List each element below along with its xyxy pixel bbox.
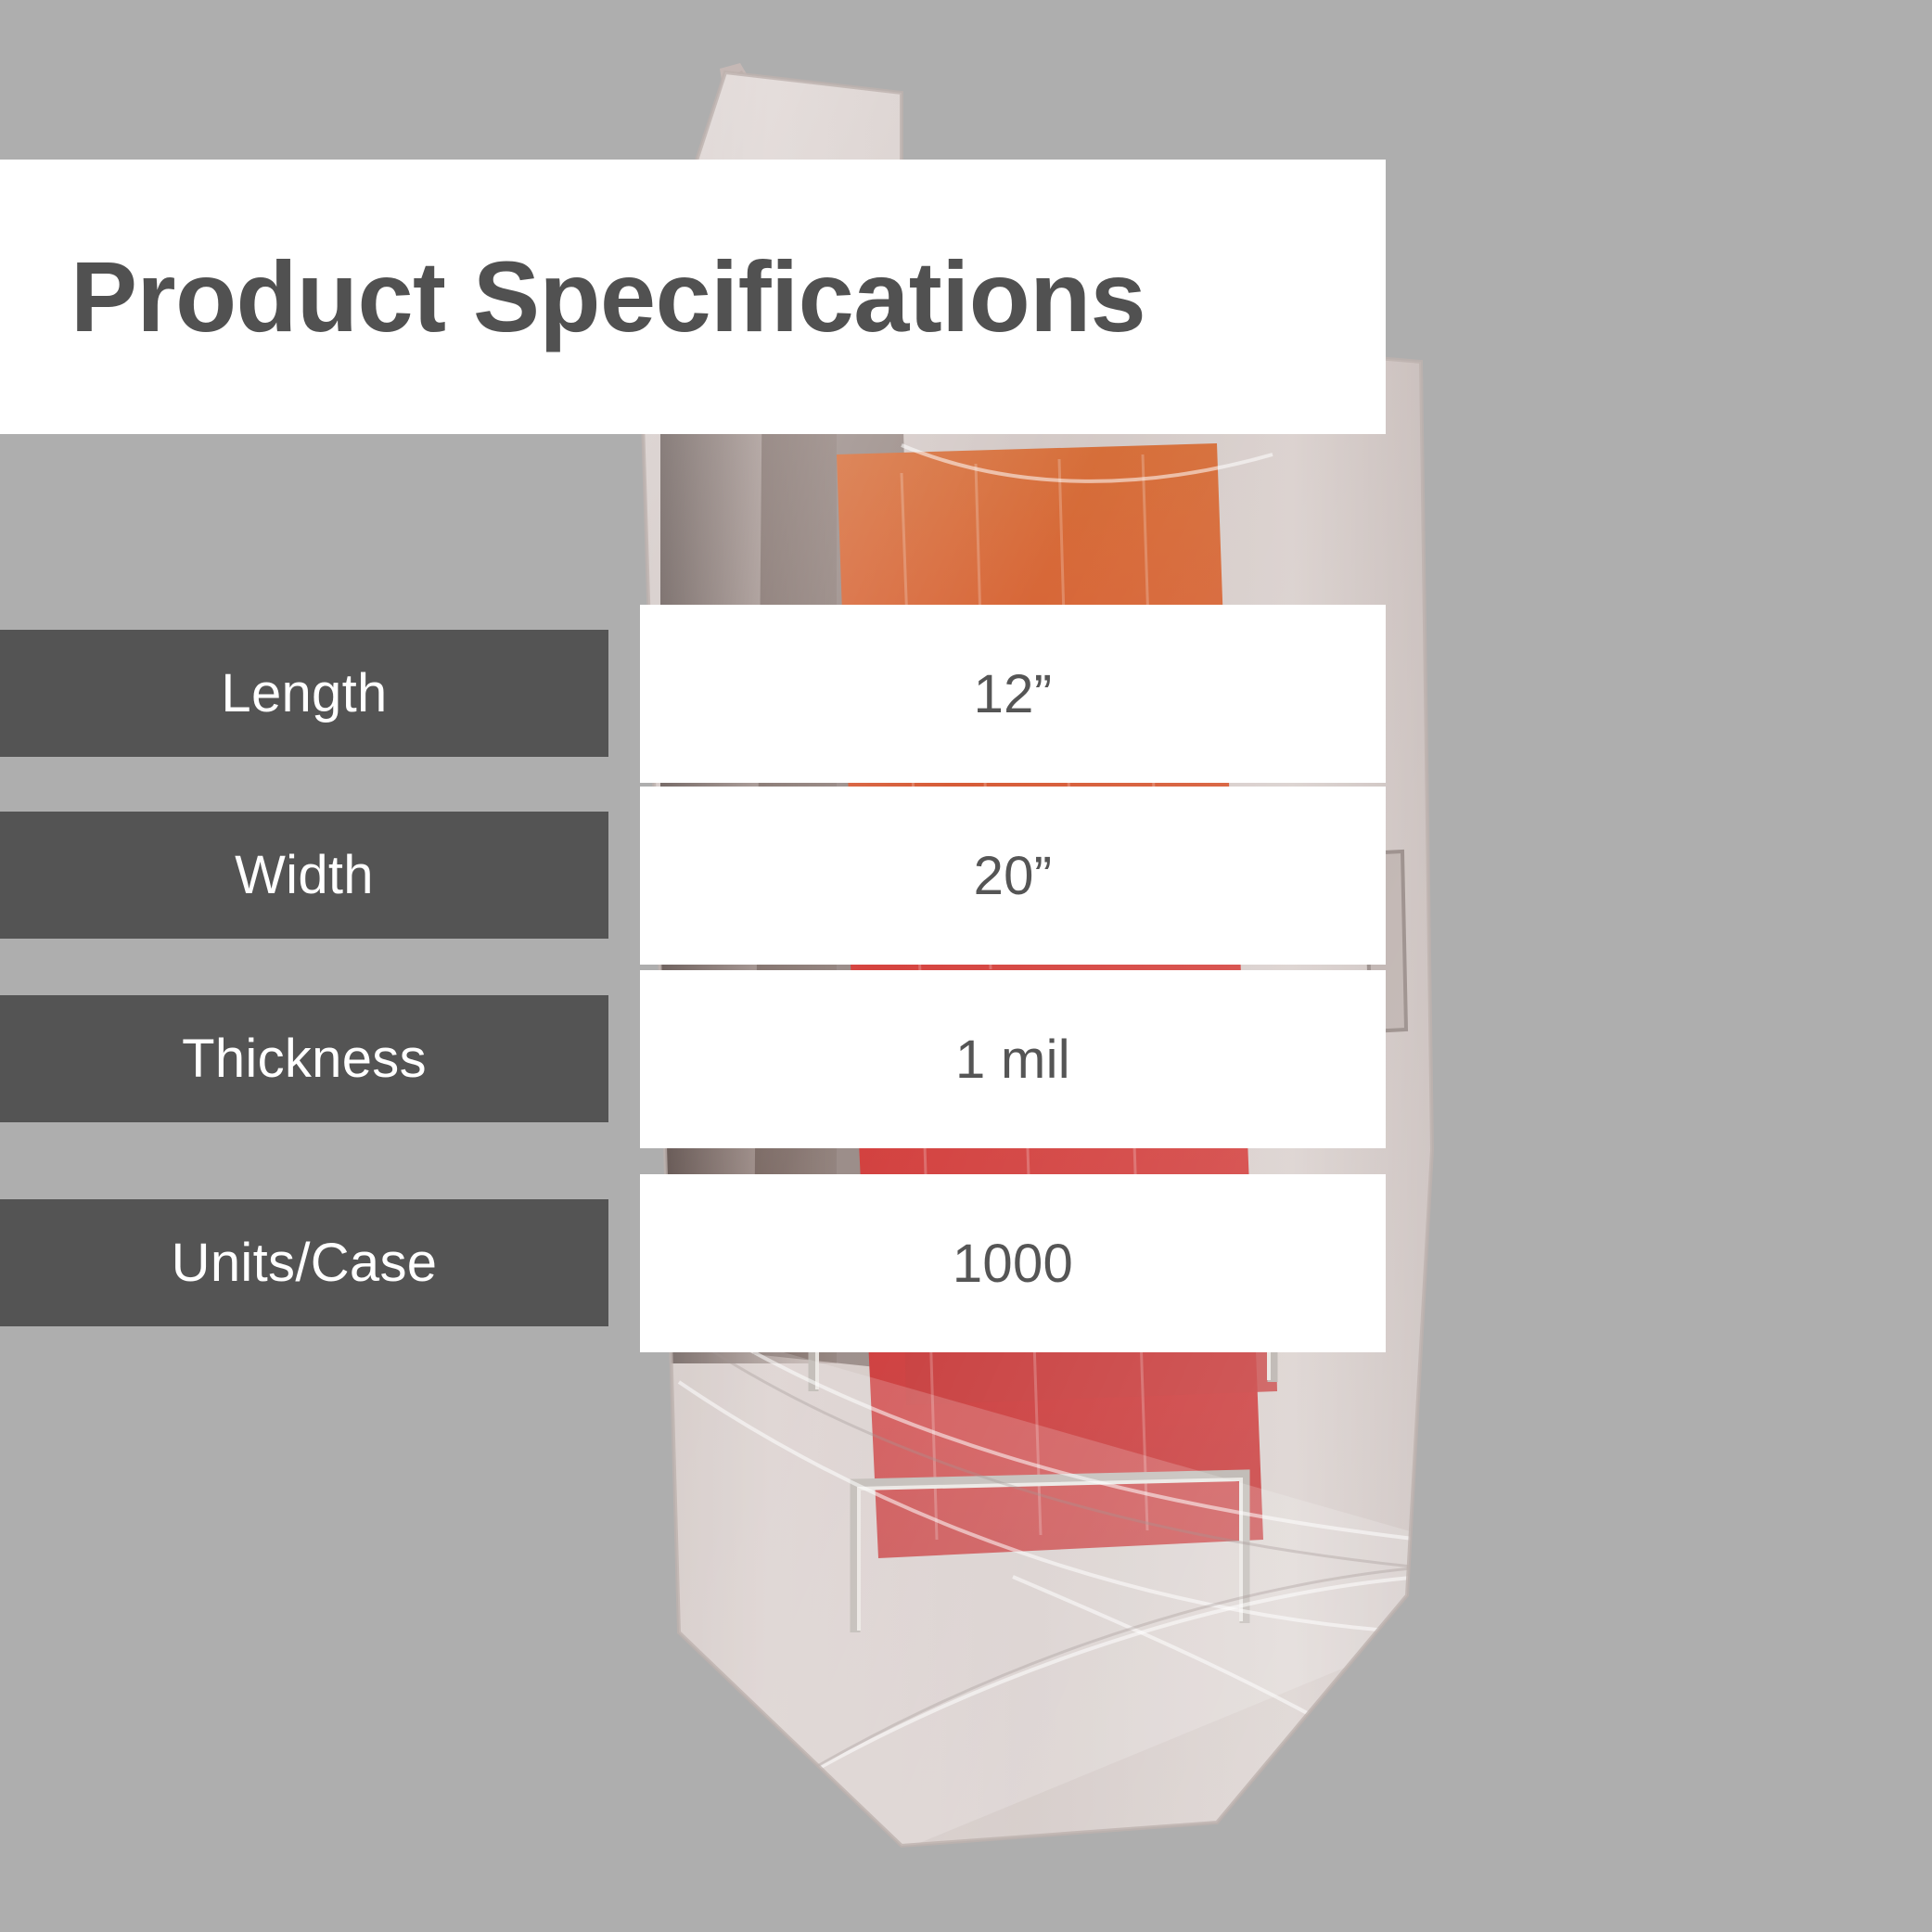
table-row: Length 12” bbox=[0, 605, 1391, 787]
spec-value-thickness: 1 mil bbox=[640, 970, 1386, 1148]
table-row: Thickness 1 mil bbox=[0, 970, 1391, 1152]
specification-card: Product Specifications Length 12” Width … bbox=[0, 0, 1932, 1932]
spec-value-length: 12” bbox=[640, 605, 1386, 783]
specifications-table: Length 12” Width 20” Thickness 1 mil Uni… bbox=[0, 0, 1932, 1932]
spec-label-units-per-case: Units/Case bbox=[0, 1199, 608, 1326]
table-row: Units/Case 1000 bbox=[0, 1174, 1391, 1356]
spec-label-thickness: Thickness bbox=[0, 995, 608, 1122]
spec-value-units-per-case: 1000 bbox=[640, 1174, 1386, 1352]
table-row: Width 20” bbox=[0, 787, 1391, 968]
spec-value-width: 20” bbox=[640, 787, 1386, 965]
spec-label-length: Length bbox=[0, 630, 608, 757]
spec-label-width: Width bbox=[0, 812, 608, 939]
